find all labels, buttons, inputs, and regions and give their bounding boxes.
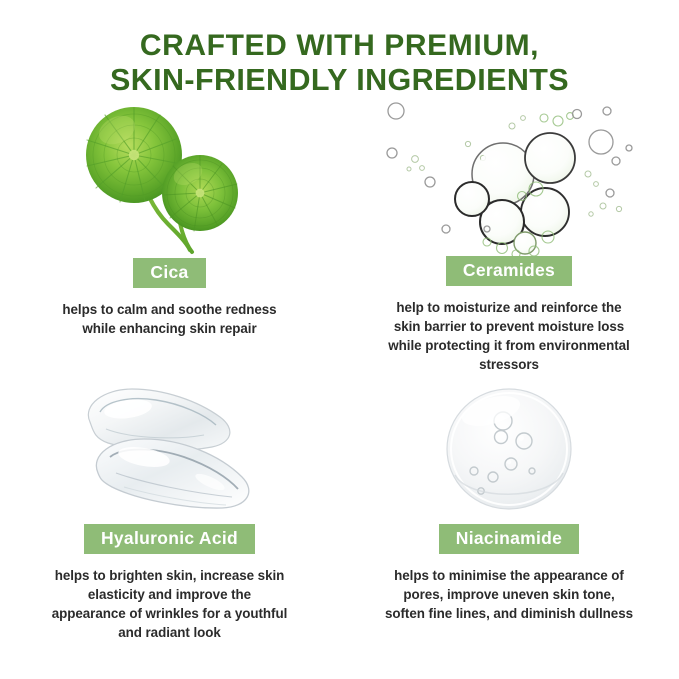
ingredient-name-badge-ceramides: Ceramides [446, 256, 572, 286]
bubble-cluster-icon [382, 96, 637, 256]
ingredient-card-ceramides: Ceramides help to moisturize and reinfor… [339, 96, 679, 374]
gel-droplet-icon [429, 379, 589, 519]
ingredient-card-niacinamide: Niacinamide helps to minimise the appear… [339, 374, 679, 654]
ingredient-description-hyaluronic: helps to brighten skin, increase skin el… [50, 566, 290, 642]
ingredient-name-badge-hyaluronic: Hyaluronic Acid [84, 524, 255, 554]
page-title: CRAFTED WITH PREMIUM, SKIN-FRIENDLY INGR… [0, 28, 679, 99]
ceramides-artwork [339, 96, 679, 256]
niacinamide-artwork [339, 374, 679, 524]
ingredient-name-badge-cica: Cica [133, 258, 205, 288]
ingredient-description-niacinamide: helps to minimise the appearance of pore… [384, 566, 634, 623]
ingredients-grid: Cica helps to calm and soothe redness wh… [0, 96, 679, 654]
ingredient-description-ceramides: help to moisturize and reinforce the ski… [383, 298, 635, 374]
ingredient-card-hyaluronic: Hyaluronic Acid helps to brighten skin, … [0, 374, 339, 654]
cica-artwork [0, 96, 339, 258]
ingredient-description-cica: helps to calm and soothe redness while e… [47, 300, 293, 338]
hyaluronic-artwork [0, 374, 339, 524]
page-title-line-2: SKIN-FRIENDLY INGREDIENTS [0, 63, 679, 99]
gel-swatch-icon [60, 377, 280, 522]
ingredient-name-badge-niacinamide: Niacinamide [439, 524, 579, 554]
page-title-line-1: CRAFTED WITH PREMIUM, [0, 28, 679, 63]
ingredients-infographic: CRAFTED WITH PREMIUM, SKIN-FRIENDLY INGR… [0, 0, 679, 679]
ingredient-card-cica: Cica helps to calm and soothe redness wh… [0, 96, 339, 374]
centella-leaf-icon [70, 96, 270, 258]
